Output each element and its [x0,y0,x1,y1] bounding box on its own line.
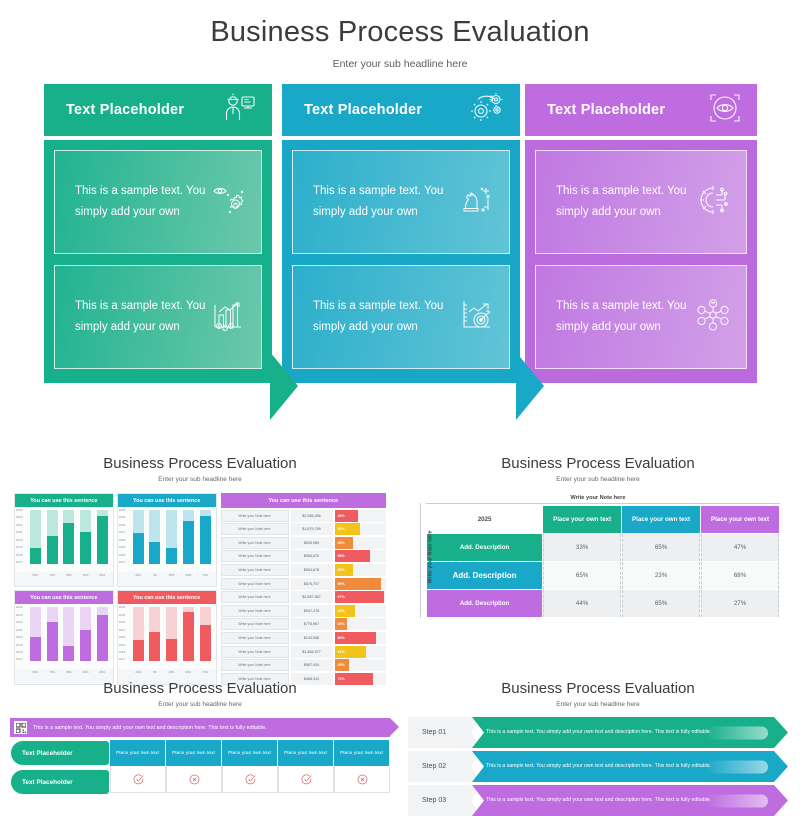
y-tick-label: 2023 [119,516,129,519]
matrix-cell: 65% [543,562,621,589]
check-icon[interactable] [278,766,334,793]
x-tick-label: 45% [166,670,177,674]
note-bar: 68% [335,550,370,562]
panel-1-header[interactable]: Text Placeholder [44,84,272,136]
note-value: $576,757 [291,578,333,590]
y-tick-label: 2022 [119,621,129,624]
bar-value [63,646,74,661]
x-tick-label: 70% [200,670,211,674]
y-tick-label: 2018 [119,554,129,557]
bar-group [200,607,211,661]
bar-group [97,510,108,564]
note-value: $2,567,567 [291,591,333,603]
charts-section-subtitle: Enter your sub headline here [4,476,396,483]
note-value: $778,967 [291,618,333,630]
note-bar: 36% [335,564,354,576]
x-tick-label: 40% [133,670,144,674]
mini-chart-2-plot: 20242023202220212020201920182017 [118,507,216,572]
y-tick-label: 2017 [119,658,129,661]
hero-section: Business Process Evaluation Enter your s… [0,0,800,70]
note-bar: 50% [335,523,361,535]
mini-chart-4-x-axis: 40%5545%90%70% [118,669,216,676]
x-tick-label: 70% [200,573,211,577]
charts-section-title: Business Process Evaluation [4,455,396,472]
y-tick-label: 2024 [119,606,129,609]
note-bar-track: 45% [335,510,387,522]
mini-chart-1-x-axis: 50%70%35%60%80% [15,572,113,579]
bar-group [166,510,177,564]
matrix-cell: 44% [543,590,621,617]
note-bar: 25% [335,618,348,630]
y-tick-label: 2024 [119,509,129,512]
checklist-marks-row [110,766,390,793]
note-bar: 35% [335,537,353,549]
y-tick-label: 2017 [16,561,26,564]
bar-group [183,510,194,564]
arrow-connector-2 [516,352,544,420]
mini-chart-1-plot: 20242023202220212020201920182017 [15,507,113,572]
y-tick-label: 2023 [16,614,26,617]
x-tick-label: 90% [183,670,194,674]
step-text: This is a sample text. You simply add yo… [486,796,711,805]
mini-chart-1-title: You can use this sentence [15,494,113,507]
matrix-row-header[interactable]: Add. Description [427,590,542,617]
bar-group [149,607,160,661]
note-value: $1,564,677 [291,646,333,658]
note-bar: 29% [335,659,350,671]
checklist-column-header[interactable]: Place your own text [110,740,166,766]
panel-2-cell-1-text: This is a sample text. You simply add yo… [313,181,459,224]
panel-1-title: Text Placeholder [66,102,184,118]
panel-1[interactable]: Text Placeholder This is a sample text. … [44,84,272,383]
bar-group [80,607,91,661]
note-row[interactable]: Write your Note here$556,67068% [221,550,387,562]
matrix-x-axis [426,503,780,504]
step-row-2[interactable]: Step 02This is a sample text. You simply… [408,751,788,782]
check-icon[interactable] [110,766,166,793]
x-tick-label: 90% [183,573,194,577]
y-tick-label: 2019 [119,644,129,647]
note-row[interactable]: Write your Note here$576,75790% [221,578,387,590]
checklist-header-row: Place your own textPlace your own textPl… [110,740,390,766]
page-subtitle: Enter your sub headline here [0,58,800,70]
checklist-banner-text: This is a sample text. You simply add yo… [33,725,267,731]
steps-section-title: Business Process Evaluation [400,680,796,697]
step-row-3[interactable]: Step 03This is a sample text. You simply… [408,785,788,816]
operator-computer-icon [222,93,256,128]
mini-chart-3-x-axis: 50%70%35%60%80% [15,669,113,676]
matrix-year: 2025 [427,506,542,533]
checklist-table: Text PlaceholderText Placeholder Place y… [10,740,390,798]
notes-rows: Write your Note here$2,565,45645%Write y… [221,510,387,685]
note-bar: 97% [335,591,385,603]
step-text: This is a sample text. You simply add yo… [486,728,711,737]
note-row[interactable]: Write your Note here$635,98935% [221,537,387,549]
matrix-column-header[interactable]: Place your own text [543,506,621,533]
checklist-column-header[interactable]: Place your own text [222,740,278,766]
mini-chart-4-title: You can use this sentence [118,591,216,604]
check-icon[interactable] [222,766,278,793]
matrix-cell: 23% [622,562,700,589]
y-tick-label: 2021 [16,629,26,632]
note-label[interactable]: Write your Note here [221,578,289,590]
note-bar-track: 40% [335,605,387,617]
y-tick-label: 2023 [119,614,129,617]
mini-chart-3-plot: 20242023202220212020201920182017 [15,604,113,669]
matrix-cell: 33% [543,534,621,561]
note-bar: 40% [335,605,356,617]
cross-icon[interactable] [334,766,390,793]
steps-section: Business Process Evaluation Enter your s… [400,680,796,800]
note-label[interactable]: Write your Note here [221,618,289,630]
mini-chart-1-y-axis: 20242023202220212020201920182017 [16,509,26,564]
step-label: Step 03 [408,785,480,816]
panel-3-body: This is a sample text. You simply add yo… [525,140,757,383]
panel-2-title: Text Placeholder [304,102,422,118]
bar-group [80,510,91,564]
x-tick-label: 50% [30,670,41,674]
bar-value [30,548,41,564]
y-tick-label: 2019 [16,546,26,549]
note-value: $2,565,456 [291,510,333,522]
panel-1-body: This is a sample text. You simply add yo… [44,140,272,383]
x-tick-label: 70% [47,670,58,674]
step-glow-decoration [706,726,768,739]
panel-1-cell-1[interactable]: This is a sample text. You simply add yo… [54,150,262,254]
bar-value [149,632,160,661]
checklist-section-title: Business Process Evaluation [4,680,396,697]
bar-group [63,607,74,661]
panel-3-title: Text Placeholder [547,102,665,118]
step-label: Step 02 [408,751,480,782]
bar-group [183,607,194,661]
note-bar-track: 97% [335,591,387,603]
note-bar-track: 35% [335,537,387,549]
checklist-banner[interactable]: This is a sample text. You simply add yo… [10,718,390,737]
matrix-cell: 68% [701,562,779,589]
bar-value [63,523,74,564]
y-tick-label: 2022 [16,524,26,527]
eye-gear-analytics-icon [211,183,245,222]
matrix-cell: 65% [622,534,700,561]
note-row[interactable]: Write your Note here$2,567,56797% [221,591,387,603]
mini-chart-2-title: You can use this sentence [118,494,216,507]
checklist-grid: Place your own textPlace your own textPl… [110,740,390,798]
step-body: This is a sample text. You simply add yo… [472,751,788,782]
mini-chart-1[interactable]: You can use this sentence202420232022202… [14,493,114,587]
note-label[interactable]: Write your Note here [221,605,289,617]
matrix-header-row: 2025Place your own textPlace your own te… [427,506,779,533]
step-text: This is a sample text. You simply add yo… [486,762,711,771]
note-bar-track: 80% [335,632,387,644]
bar-group [166,607,177,661]
notes-panel-header: You can use this sentence [221,493,387,508]
bar-group [200,510,211,564]
gear-circuit-ai-icon [696,183,730,222]
step-body: This is a sample text. You simply add yo… [472,717,788,748]
bar-group [30,607,41,661]
checklist-section-subtitle: Enter your sub headline here [4,701,396,708]
bar-value [183,612,194,662]
bar-group [30,510,41,564]
mini-charts-grid: You can use this sentence202420232022202… [14,493,217,685]
note-bar-track: 68% [335,550,387,562]
note-label[interactable]: Write your Note here [221,537,289,549]
note-row[interactable]: Write your Note here$947,47840% [221,605,387,617]
bar-value [97,516,108,564]
notes-panel: You can use this sentence Write your Not… [221,493,387,685]
charts-section: Business Process Evaluation Enter your s… [4,455,396,670]
matrix-section-subtitle: Enter your sub headline here [400,476,796,483]
step-glow-decoration [706,760,768,773]
note-value: $557,454 [291,659,333,671]
mini-chart-2-x-axis: 40%5545%90%70% [118,572,216,579]
note-bar-track: 36% [335,564,387,576]
bar-group [149,510,160,564]
bar-value [80,532,91,564]
checklist-column-header[interactable]: Place your own text [334,740,390,766]
eye-focus-vision-icon [709,93,741,128]
note-value: $556,670 [291,550,333,562]
matrix-row-header[interactable]: Add. Description [427,534,542,561]
note-bar: 80% [335,632,376,644]
x-tick-label: 50% [30,573,41,577]
matrix-row: Add. Description33%65%47% [427,534,779,561]
steps-list: Step 01This is a sample text. You simply… [400,717,796,816]
mini-chart-2[interactable]: You can use this sentence202420232022202… [117,493,217,587]
x-tick-label: 60% [80,670,91,674]
qr-code-icon [14,721,27,734]
y-tick-label: 2019 [16,644,26,647]
note-row[interactable]: Write your Note here$778,96725% [221,618,387,630]
step-row-1[interactable]: Step 01This is a sample text. You simply… [408,717,788,748]
note-label[interactable]: Write your Note here [221,591,289,603]
cross-icon[interactable] [166,766,222,793]
note-row[interactable]: Write your Note here$1,564,67761% [221,646,387,658]
y-tick-label: 2020 [16,539,26,542]
process-panels: Text Placeholder This is a sample text. … [0,84,800,414]
team-network-faces-icon [696,298,730,337]
note-value: $554,678 [291,564,333,576]
panel-1-cell-1-text: This is a sample text. You simply add yo… [75,181,211,224]
x-tick-label: 35% [63,670,74,674]
matrix-y-axis [420,503,421,618]
bar-value [97,615,108,661]
note-label[interactable]: Write your Note here [221,659,289,671]
panel-2-cell-2[interactable]: This is a sample text. You simply add yo… [292,265,510,369]
x-tick-label: 80% [97,573,108,577]
checklist-row-label[interactable]: Text Placeholder [10,769,110,795]
x-tick-label: 35% [63,573,74,577]
matrix-row-header[interactable]: Add. Description [427,562,542,589]
y-tick-label: 2020 [16,636,26,639]
note-row[interactable]: Write your Note here$554,67836% [221,564,387,576]
bar-value [200,516,211,564]
step-glow-decoration [706,794,768,807]
y-tick-label: 2018 [119,651,129,654]
bar-group [133,607,144,661]
bar-value [133,640,144,662]
matrix-side-note: Write your Note here [427,531,433,584]
checklist-section: Business Process Evaluation Enter your s… [4,680,396,800]
note-bar-track: 25% [335,618,387,630]
note-value: $947,478 [291,605,333,617]
mini-chart-4-y-axis: 20242023202220212020201920182017 [119,606,129,661]
panel-3-cell-2[interactable]: This is a sample text. You simply add yo… [535,265,747,369]
bar-group [133,510,144,564]
x-tick-label: 55 [149,573,160,577]
note-row[interactable]: Write your Note here$1,879,78950% [221,523,387,535]
mini-chart-3-title: You can use this sentence [15,591,113,604]
arrow-connector-1 [270,352,298,420]
bar-value [47,622,58,661]
mini-chart-3-y-axis: 20242023202220212020201920182017 [16,606,26,661]
y-tick-label: 2017 [119,561,129,564]
panel-2-header[interactable]: Text Placeholder [282,84,520,136]
y-tick-label: 2024 [16,606,26,609]
bar-group [47,510,58,564]
note-bar: 90% [335,578,381,590]
x-tick-label: 55 [149,670,160,674]
growth-target-chart-icon [459,298,493,337]
mini-chart-4[interactable]: You can use this sentence202420232022202… [117,590,217,684]
note-value: $143,556 [291,632,333,644]
bar-value [183,521,194,564]
panel-2-cell-2-text: This is a sample text. You simply add yo… [313,296,459,339]
matrix-cell: 65% [622,590,700,617]
checklist-column-header[interactable]: Place your own text [278,740,334,766]
note-value: $635,989 [291,537,333,549]
x-tick-label: 70% [47,573,58,577]
panel-2[interactable]: Text Placeholder This is a sample text. … [282,84,520,383]
y-tick-label: 2021 [119,531,129,534]
note-label[interactable]: Write your Note here [221,510,289,522]
note-bar-track: 90% [335,578,387,590]
matrix-wrapper: Write your Note here 2025Place your own … [426,505,780,618]
y-tick-label: 2018 [16,651,26,654]
matrix-column-header[interactable]: Place your own text [701,506,779,533]
y-tick-label: 2020 [119,539,129,542]
matrix-row: Add. Description44%65%27% [427,590,779,617]
panel-1-cell-2-text: This is a sample text. You simply add yo… [75,296,211,339]
note-bar-track: 29% [335,659,387,671]
bar-value [47,536,58,564]
bar-group [47,607,58,661]
bar-value [80,630,91,661]
panel-3-cell-2-text: This is a sample text. You simply add yo… [556,296,696,339]
note-bar: 45% [335,510,358,522]
note-label[interactable]: Write your Note here [221,523,289,535]
gears-process-icon [470,93,504,128]
y-tick-label: 2017 [16,658,26,661]
step-label: Step 01 [408,717,480,748]
matrix-section: Business Process Evaluation Enter your s… [400,455,796,670]
panel-3-cell-1-text: This is a sample text. You simply add yo… [556,181,696,224]
note-bar-track: 61% [335,646,387,658]
y-tick-label: 2024 [16,509,26,512]
note-label[interactable]: Write your Note here [221,632,289,644]
chess-knight-strategy-icon [459,183,493,222]
x-tick-label: 80% [97,670,108,674]
y-tick-label: 2021 [119,629,129,632]
matrix-top-note: Write your Note here [400,495,796,501]
bar-value [133,533,144,564]
mini-chart-2-y-axis: 20242023202220212020201920182017 [119,509,129,564]
bar-chart-people-icon [211,299,245,336]
x-tick-label: 40% [133,573,144,577]
bar-value [200,625,211,662]
matrix-column-header[interactable]: Place your own text [622,506,700,533]
y-tick-label: 2019 [119,546,129,549]
x-tick-label: 60% [80,573,91,577]
matrix-row: Add. Description65%23%68% [427,562,779,589]
checklist-row-labels: Text PlaceholderText Placeholder [10,740,110,798]
panel-3-header[interactable]: Text Placeholder [525,84,757,136]
bar-value [149,542,160,564]
bar-value [166,548,177,564]
x-tick-label: 45% [166,573,177,577]
note-row[interactable]: Write your Note here$557,45429% [221,659,387,671]
bar-value [30,637,41,661]
y-tick-label: 2022 [119,524,129,527]
panel-2-cell-1[interactable]: This is a sample text. You simply add yo… [292,150,510,254]
bar-value [166,639,177,662]
mini-chart-3[interactable]: You can use this sentence202420232022202… [14,590,114,684]
step-body: This is a sample text. You simply add yo… [472,785,788,816]
matrix-table[interactable]: 2025Place your own textPlace your own te… [426,505,780,618]
steps-section-subtitle: Enter your sub headline here [400,701,796,708]
matrix-cell: 47% [701,534,779,561]
note-value: $1,879,789 [291,523,333,535]
bar-group [97,607,108,661]
note-row[interactable]: Write your Note here$2,565,45645% [221,510,387,522]
note-row[interactable]: Write your Note here$143,55680% [221,632,387,644]
checklist-row-label[interactable]: Text Placeholder [10,740,110,766]
note-label[interactable]: Write your Note here [221,646,289,658]
note-bar: 61% [335,646,366,658]
page-title: Business Process Evaluation [0,16,800,49]
note-label[interactable]: Write your Note here [221,550,289,562]
bar-group [63,510,74,564]
panel-3[interactable]: Text Placeholder This is a sample text. … [525,84,757,383]
checklist-column-header[interactable]: Place your own text [166,740,222,766]
y-tick-label: 2021 [16,531,26,534]
y-tick-label: 2023 [16,516,26,519]
y-tick-label: 2020 [119,636,129,639]
matrix-section-title: Business Process Evaluation [400,455,796,472]
panel-3-cell-1[interactable]: This is a sample text. You simply add yo… [535,150,747,254]
y-tick-label: 2018 [16,554,26,557]
mini-chart-4-plot: 20242023202220212020201920182017 [118,604,216,669]
panel-1-cell-2[interactable]: This is a sample text. You simply add yo… [54,265,262,369]
y-tick-label: 2022 [16,621,26,624]
note-bar-track: 50% [335,523,387,535]
matrix-cell: 27% [701,590,779,617]
panel-2-body: This is a sample text. You simply add yo… [282,140,520,383]
note-label[interactable]: Write your Note here [221,564,289,576]
